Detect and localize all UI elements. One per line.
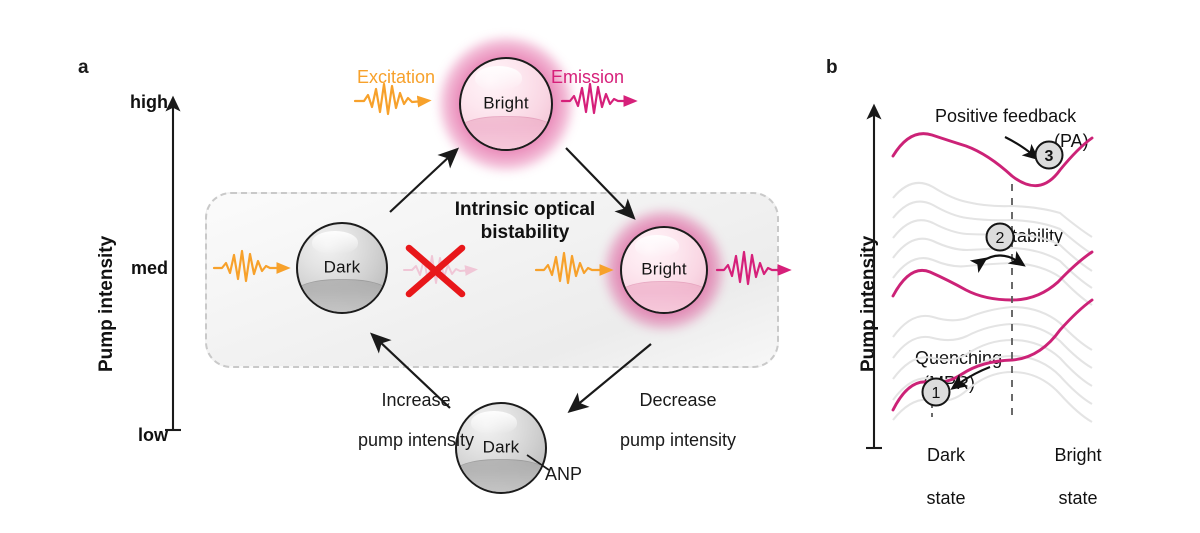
axis-tick-low: low <box>106 425 168 446</box>
sphere-bright-middle: Bright <box>620 226 708 314</box>
sphere-shading-band <box>296 279 388 312</box>
sphere-specular-highlight <box>475 66 522 89</box>
state-label-line-1: Dark <box>927 445 965 465</box>
box-title-line-2: bistability <box>481 222 570 243</box>
emission-label: Emission <box>551 67 624 87</box>
state-label-line-2: state <box>1058 488 1097 508</box>
bistability-box-title: Intrinsic optical bistability <box>410 198 640 244</box>
annotation-line-2: (MPR) <box>923 373 975 393</box>
axis-tick-high: high <box>106 92 168 113</box>
state-label-line-1: Bright <box>1054 445 1101 465</box>
annotation-bistability: Bistability <box>967 205 1063 269</box>
state-label-line-2: state <box>926 488 965 508</box>
sphere-dark-middle: Dark <box>296 222 388 314</box>
decrease-pump-label: Decrease pump intensity <box>588 370 748 471</box>
decrease-pump-line-1: Decrease <box>639 390 716 410</box>
panel-a-letter: a <box>78 58 89 77</box>
figure-root: a Pump intensity high med low Intrinsic … <box>0 0 1200 533</box>
axis-tick-med: med <box>106 258 168 279</box>
increase-pump-line-1: Increase <box>381 390 450 410</box>
emission-waveform-top <box>562 84 630 113</box>
panel-b-letter: b <box>826 58 838 77</box>
excitation-label: Excitation <box>357 67 435 87</box>
sphere-label: Dark <box>298 258 386 278</box>
sphere-label: Bright <box>622 260 706 280</box>
sphere-specular-highlight <box>471 411 517 434</box>
sphere-specular-highlight <box>312 231 358 254</box>
decrease-pump-line-2: pump intensity <box>620 430 736 450</box>
annotation-line-2: (PA) <box>1054 131 1089 151</box>
annotation-quenching-sub: (MPR) <box>903 352 975 416</box>
sphere-specular-highlight <box>635 235 679 257</box>
panel-b-axis-title: Pump intensity <box>858 236 880 372</box>
sphere-label: Dark <box>457 438 545 458</box>
annotation-line-1: Bistability <box>987 226 1063 246</box>
annotation-positive-feedback-sub: (PA) <box>1034 110 1089 174</box>
sphere-shading-band <box>455 459 547 492</box>
sphere-shading-band <box>620 281 708 312</box>
state-label-dark: Dark state <box>886 424 986 530</box>
sphere-bright-top: Bright <box>459 57 553 151</box>
anp-callout-label: ANP <box>545 464 582 484</box>
state-label-bright: Bright state <box>1018 424 1118 530</box>
sphere-shading-band <box>459 116 553 149</box>
excitation-waveform-top <box>355 84 424 114</box>
sphere-label: Bright <box>461 94 551 114</box>
box-title-line-1: Intrinsic optical <box>455 199 595 220</box>
panel-a-axis-title: Pump intensity <box>96 236 118 372</box>
